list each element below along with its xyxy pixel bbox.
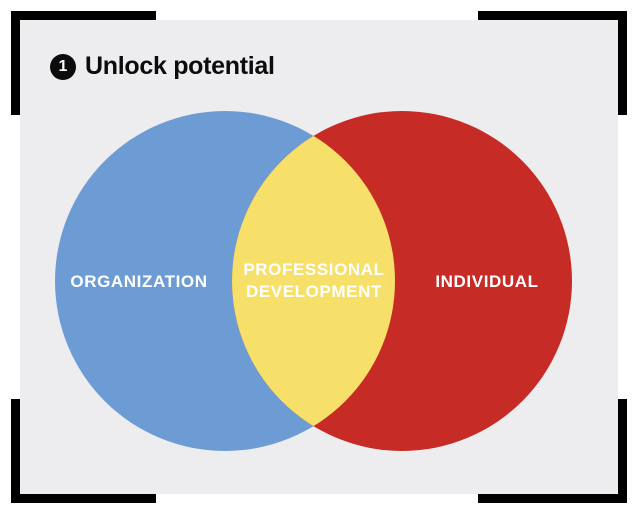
venn-label-professional-development-line1: PROFESSIONAL [243, 260, 384, 279]
venn-label-individual: INDIVIDUAL [435, 272, 538, 291]
slide-canvas: 1 Unlock potential ORGANIZATION INDIVIDU… [0, 0, 638, 514]
venn-label-organization: ORGANIZATION [70, 272, 207, 291]
venn-label-professional-development-line2: DEVELOPMENT [246, 282, 382, 301]
venn-diagram: ORGANIZATION INDIVIDUAL PROFESSIONAL DEV… [0, 0, 638, 514]
